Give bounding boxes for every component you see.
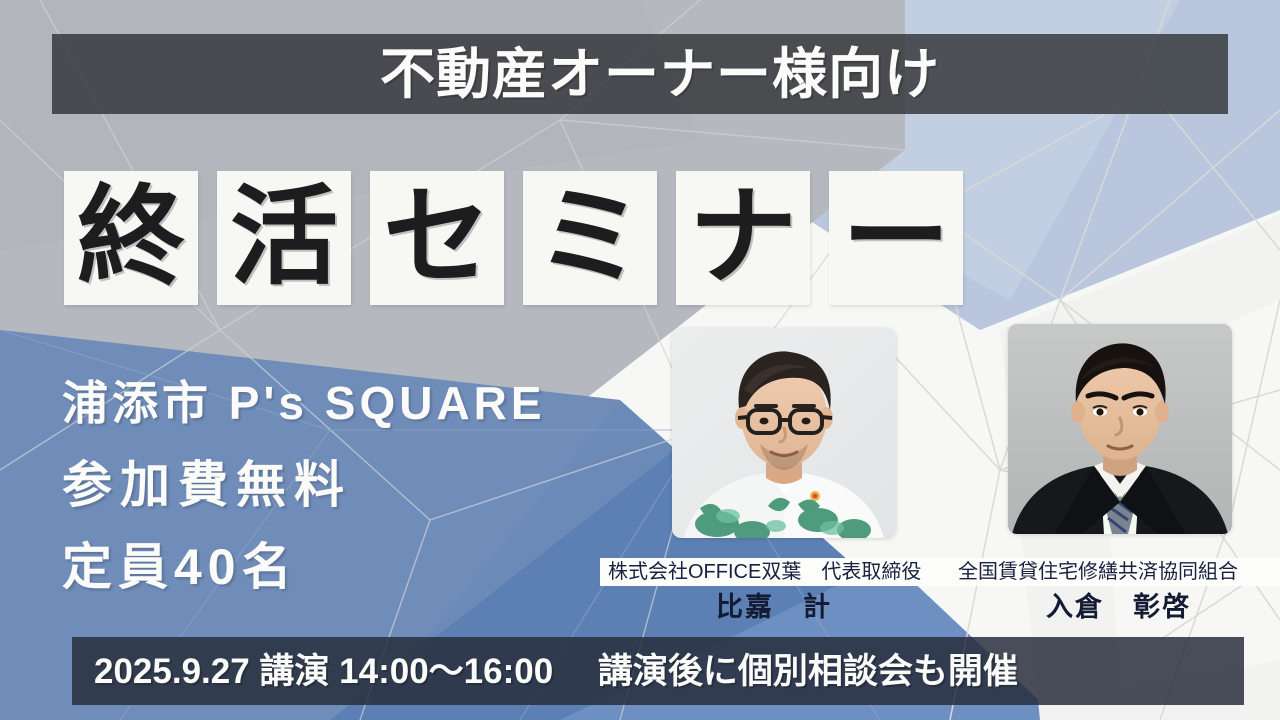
capacity-text: 定員40名 [62, 542, 546, 592]
poster-canvas: 不動産オーナー様向け 終 活 セ ミ ナ ー 浦添市 P's SQUARE 参加… [0, 0, 1280, 720]
title-tile-char: ミ [536, 184, 644, 292]
speaker-role-left: 株式会社OFFICE双葉 代表取締役 [608, 560, 921, 584]
speaker-photo-irikura [1008, 324, 1232, 534]
header-banner: 不動産オーナー様向け [52, 34, 1228, 114]
event-info-block: 浦添市 P's SQUARE 参加費無料 定員40名 [62, 380, 546, 592]
title-tile-char: ー [842, 184, 950, 292]
speaker-role-right: 全国賃貸住宅修繕共済協同組合 [958, 560, 1238, 584]
header-banner-text: 不動産オーナー様向け [380, 47, 940, 102]
speaker-name-right: 入倉 彰啓 [1046, 592, 1191, 622]
fee-text: 参加費無料 [62, 460, 546, 510]
title-tile-char: ナ [689, 184, 797, 292]
venue-text: 浦添市 P's SQUARE [62, 380, 546, 426]
title-tile: セ [370, 171, 504, 305]
title-tile-char: 終 [77, 184, 185, 292]
title-tile-char: セ [383, 184, 491, 292]
title-tile: 活 [217, 171, 351, 305]
title-tile: ー [829, 171, 963, 305]
title-tile: ミ [523, 171, 657, 305]
speaker-photo-higa [672, 328, 896, 538]
seminar-title-tiles: 終 活 セ ミ ナ ー [64, 171, 963, 305]
title-tile-char: 活 [230, 184, 338, 292]
footer-banner: 2025.9.27 講演 14:00〜16:00 講演後に個別相談会も開催 [72, 637, 1244, 705]
title-tile: 終 [64, 171, 198, 305]
title-tile: ナ [676, 171, 810, 305]
speaker-name-left: 比嘉 計 [716, 592, 832, 622]
footer-banner-text: 2025.9.27 講演 14:00〜16:00 講演後に個別相談会も開催 [72, 654, 1018, 689]
